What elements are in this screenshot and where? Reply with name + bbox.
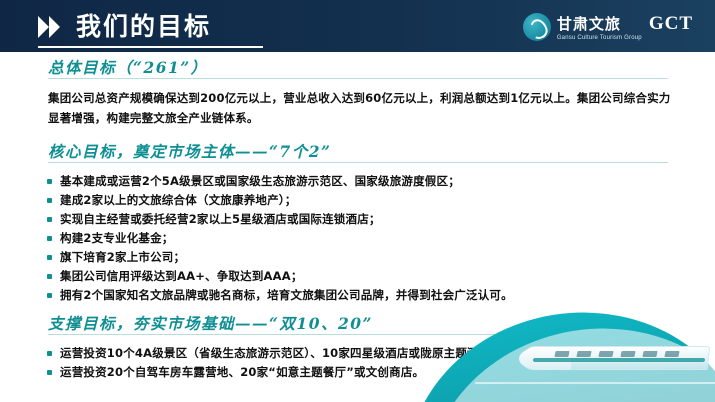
logo-cn-name: 甘肃文旅 [557, 17, 642, 32]
high-speed-train-icon [519, 340, 709, 376]
list-item: 基本建成或运营2个5A级景区或国家级生态旅游示范区、国家级旅游度假区； [46, 172, 513, 191]
section-rule-core [48, 162, 668, 163]
support-bullet-list: 运营投资10个4A级景区（省级生态旅游示范区）、10家四星级酒店或陇原主题酒店；… [46, 344, 502, 382]
core-bullet-list: 基本建成或运营2个5A级景区或国家级生态旅游示范区、国家级旅游度假区； 建成2家… [46, 172, 513, 305]
list-item: 实现自主经营或委托经营2家以上5星级酒店或国际连锁酒店； [46, 210, 513, 229]
section-heading-overall: 总体目标（“261”） [48, 56, 208, 78]
section-heading-support: 支撑目标，夯实市场基础——“双10、20” [48, 312, 373, 334]
logo-en-name: Gansu Culture Tourism Group [557, 35, 642, 41]
logo-abbr: GCT [649, 13, 693, 35]
list-item: 集团公司信用评级达到AA+、争取达到AAA； [46, 267, 513, 286]
overall-body-text: 集团公司总资产规模确保达到200亿元以上，营业总收入达到60亿元以上，利润总额达… [48, 88, 673, 128]
brand-logo: 甘肃文旅 Gansu Culture Tourism Group GCT [523, 12, 693, 42]
double-chevron-right-icon [38, 16, 68, 38]
section-rule-overall [48, 78, 668, 79]
section-heading-core: 核心目标，奠定市场主体——“7个2” [48, 140, 331, 162]
section-rule-support [48, 334, 668, 335]
rail-line [475, 382, 715, 384]
list-item: 构建2支专业化基金； [46, 229, 513, 248]
gansu-culture-tourism-swirl-icon [523, 13, 551, 41]
list-item: 运营投资20个自驾车房车露营地、20家“如意主题餐厅”或文创商店。 [46, 363, 502, 382]
slide: 我们的目标 甘肃文旅 Gansu Culture Tourism Group G… [0, 0, 715, 402]
list-item: 旗下培育2家上市公司； [46, 248, 513, 267]
title-underline [38, 46, 263, 48]
list-item: 建成2家以上的文旅综合体（文旅康养地产）； [46, 191, 513, 210]
list-item: 运营投资10个4A级景区（省级生态旅游示范区）、10家四星级酒店或陇原主题酒店； [46, 344, 502, 363]
page-title: 我们的目标 [76, 12, 211, 42]
list-item: 拥有2个国家知名文旅品牌或驰名商标，培育文旅集团公司品牌，并得到社会广泛认可。 [46, 286, 513, 305]
